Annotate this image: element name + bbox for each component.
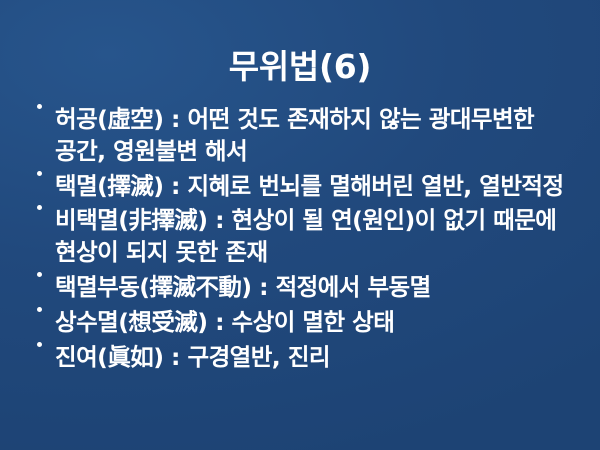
bullet-dot-icon: [37, 272, 42, 277]
bullet-item-text: 진여(眞如) : 구경열반, 진리: [55, 342, 578, 374]
bullet-list: 허공(虛空) : 어떤 것도 존재하지 않는 광대무변한 공간, 영원불변 해서…: [30, 104, 578, 377]
bullet-item-text: 택멸(擇滅) : 지혜로 번뇌를 멸해버린 열반, 열반적정: [55, 171, 578, 203]
bullet-dot-icon: [37, 205, 42, 210]
bullet-item-text: 택멸부동(擇滅不動) : 적정에서 부동멸: [55, 272, 578, 304]
bullet-item: 허공(虛空) : 어떤 것도 존재하지 않는 광대무변한 공간, 영원불변 해서: [30, 104, 578, 168]
presentation-slide: 무위법(6) 허공(虛空) : 어떤 것도 존재하지 않는 광대무변한 공간, …: [0, 0, 600, 450]
bullet-dot-icon: [37, 104, 42, 109]
bullet-dot-icon: [37, 307, 42, 312]
slide-title: 무위법(6): [0, 48, 600, 86]
bullet-item: 진여(眞如) : 구경열반, 진리: [30, 342, 578, 374]
bullet-item-text: 허공(虛空) : 어떤 것도 존재하지 않는 광대무변한 공간, 영원불변 해서: [55, 104, 578, 168]
bullet-item: 비택멸(非擇滅) : 현상이 될 연(원인)이 없기 때문에 현상이 되지 못한…: [30, 205, 578, 269]
bullet-item: 상수멸(想受滅) : 수상이 멸한 상태: [30, 307, 578, 339]
bullet-dot-icon: [37, 171, 42, 176]
bullet-item-text: 상수멸(想受滅) : 수상이 멸한 상태: [55, 307, 578, 339]
bullet-item: 택멸부동(擇滅不動) : 적정에서 부동멸: [30, 272, 578, 304]
bullet-item: 택멸(擇滅) : 지혜로 번뇌를 멸해버린 열반, 열반적정: [30, 171, 578, 203]
bullet-dot-icon: [37, 342, 42, 347]
bullet-item-text: 비택멸(非擇滅) : 현상이 될 연(원인)이 없기 때문에 현상이 되지 못한…: [55, 205, 578, 269]
